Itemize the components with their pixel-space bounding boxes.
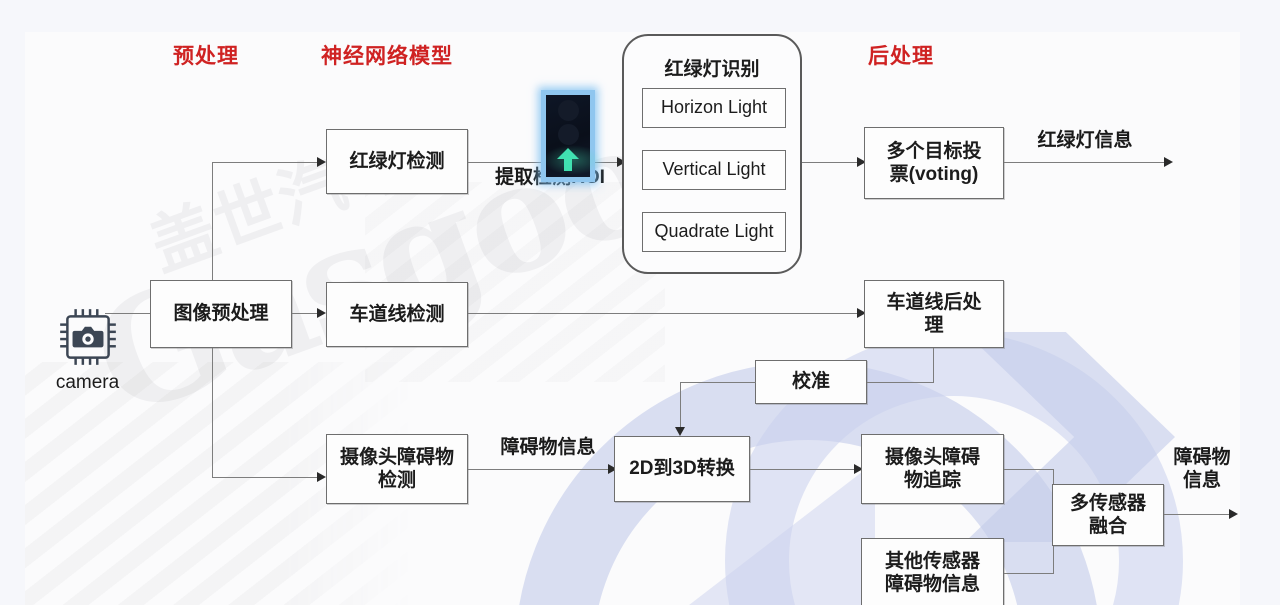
node-lane-postprocess[interactable]: 车道线后处 理 (864, 280, 1004, 348)
node-vertical-light[interactable]: Vertical Light (642, 150, 786, 190)
edge-calibration-to-lane-post-v (933, 348, 934, 383)
edge-2d3d-to-tracking (750, 469, 860, 470)
edge-calibration-to-2d3d-v (680, 382, 681, 430)
slide-plate: 盖世汽车 Gasgoo 预处理 神经网络模型 后处理 (25, 32, 1240, 605)
edge-label-obstacle-info-mid: 障碍物信息 (478, 437, 618, 460)
traffic-light-green-arrow-icon (557, 148, 579, 172)
arrowhead-obstacle-detect (317, 472, 326, 482)
group-traffic-light-recognition: 红绿灯识别 Horizon Light Vertical Light Quadr… (622, 34, 802, 274)
arrowhead-traffic-light-output (1164, 157, 1173, 167)
header-postprocess: 后处理 (868, 40, 934, 70)
traffic-light-photo (541, 90, 595, 182)
arrowhead-tl-detect (317, 157, 326, 167)
edge-trunk-down (212, 348, 213, 478)
node-camera-obstacle-tracking[interactable]: 摄像头障碍 物追踪 (861, 434, 1004, 504)
traffic-light-lamp-red (558, 100, 579, 121)
node-horizon-light[interactable]: Horizon Light (642, 88, 786, 128)
node-voting[interactable]: 多个目标投 票(voting) (864, 127, 1004, 199)
node-multi-sensor-fusion[interactable]: 多传感器 融合 (1052, 484, 1164, 546)
edge-obstacle-output (1164, 514, 1236, 515)
node-traffic-light-detect[interactable]: 红绿灯检测 (326, 129, 468, 194)
header-neural-network-model: 神经网络模型 (321, 40, 453, 70)
node-lane-detect[interactable]: 车道线检测 (326, 282, 468, 347)
edge-trunk-up (212, 162, 213, 280)
edge-obstacle-to-2d3d (468, 469, 615, 470)
edge-calibration-to-2d3d-h (680, 382, 756, 383)
node-quadrate-light[interactable]: Quadrate Light (642, 212, 786, 252)
group-title-traffic-light-recognition: 红绿灯识别 (624, 54, 800, 81)
edge-other-merge-h (1004, 573, 1054, 574)
diagram-canvas: 盖世汽车 Gasgoo 预处理 神经网络模型 后处理 (0, 0, 1280, 605)
edge-trunk-to-obstacle-detect (212, 477, 324, 478)
edge-label-traffic-light-info: 红绿灯信息 (1009, 130, 1161, 153)
node-camera-obstacle-detect[interactable]: 摄像头障碍物 检测 (326, 434, 468, 504)
edge-tracking-merge-h (1004, 469, 1054, 470)
node-2d-to-3d-conversion[interactable]: 2D到3D转换 (614, 436, 750, 502)
edge-trunk-to-tl-detect (212, 162, 324, 163)
node-calibration[interactable]: 校准 (755, 360, 867, 404)
edge-lane-detect-to-postprocess (468, 313, 863, 314)
node-other-sensor-obstacle-info[interactable]: 其他传感器 障碍物信息 (861, 538, 1004, 605)
camera-label: camera (30, 372, 145, 394)
header-preprocess: 预处理 (173, 40, 239, 70)
edge-camera-to-preprocess (105, 313, 153, 314)
edge-traffic-light-output (1004, 162, 1171, 163)
arrowhead-lane-detect (317, 308, 326, 318)
node-image-preprocess[interactable]: 图像预处理 (150, 280, 292, 348)
arrowhead-2d3d-from-calibration (675, 427, 685, 436)
edge-calibration-to-lane-post-h (867, 382, 934, 383)
traffic-light-lamp-yellow (558, 124, 579, 145)
edge-label-obstacle-output: 障碍物 信息 (1147, 447, 1240, 493)
edge-group-to-voting (802, 162, 864, 163)
arrowhead-obstacle-output (1229, 509, 1238, 519)
